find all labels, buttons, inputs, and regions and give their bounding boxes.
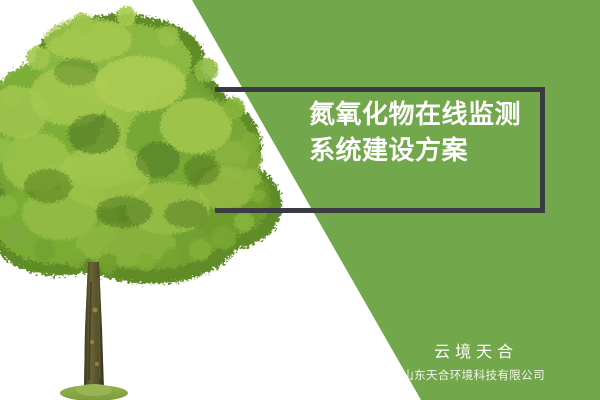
- slide-canvas: 氮氧化物在线监测 系统建设方案 云境天合 山东天合环境科技有限公司: [0, 0, 600, 400]
- slide-title-line-2: 系统建设方案: [309, 132, 559, 168]
- tree-grass-base: [60, 384, 128, 400]
- brand-footer: 云境天合 山东天合环境科技有限公司: [402, 342, 545, 385]
- slide-title: 氮氧化物在线监测 系统建设方案: [309, 96, 559, 168]
- tree-illustration: [0, 0, 300, 400]
- slide-title-line-1: 氮氧化物在线监测: [309, 96, 559, 132]
- brand-name: 云境天合: [402, 342, 545, 364]
- tree-svg: [0, 0, 300, 400]
- tree-trunk-front: [84, 262, 104, 390]
- brand-company-name: 山东天合环境科技有限公司: [402, 367, 545, 385]
